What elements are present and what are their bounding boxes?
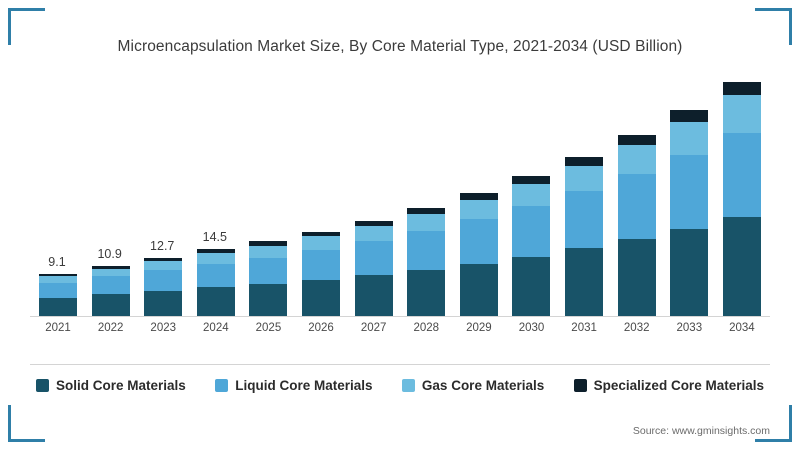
bar-segment [723,95,761,132]
x-axis-tick: 2022 [91,322,131,342]
x-axis-tick: 2023 [143,322,183,342]
bar-segment [355,275,393,316]
corner-bracket-bottom-left [8,405,45,442]
bar-segment [460,264,498,317]
chart-page: Microencapsulation Market Size, By Core … [0,0,800,450]
bar-segment [565,157,603,166]
bar-stack [460,193,498,316]
x-axis-line [30,316,770,317]
legend-label: Gas Core Materials [422,378,544,393]
x-axis-tick: 2029 [459,322,499,342]
bar-segment [407,270,445,316]
bar-segment [618,135,656,146]
plot-area: 9.110.912.714.5 [30,82,770,316]
legend-swatch-icon [215,379,228,392]
x-axis-tick: 2028 [406,322,446,342]
x-axis-tick: 2026 [301,322,341,342]
x-axis-tick: 2021 [38,322,78,342]
bar-segment [92,294,130,316]
bar-stack [144,258,182,317]
bar-column [354,82,394,316]
bar-stack [407,208,445,316]
x-axis-tick: 2027 [354,322,394,342]
bar-segment [144,291,182,316]
x-axis-tick: 2025 [248,322,288,342]
bar-segment [618,239,656,316]
bar-stack [92,266,130,316]
bar-segment [355,241,393,275]
x-axis-tick: 2032 [617,322,657,342]
bar-column [459,82,499,316]
bar-segment [144,270,182,291]
bar-segment [39,298,77,316]
bar-segment [92,269,130,277]
chart-title: Microencapsulation Market Size, By Core … [0,38,800,56]
bar-value-label: 12.7 [132,239,192,253]
bar-column [564,82,604,316]
bar-column [301,82,341,316]
bar-segment [670,122,708,155]
bar-column [406,82,446,316]
bar-column [722,82,762,316]
bar-stack [618,135,656,316]
bar-segment [565,166,603,191]
bar-segment [565,191,603,248]
bar-stack [197,249,235,316]
bar-column [511,82,551,316]
bar-segment [723,82,761,95]
bar-segment [512,184,550,206]
bar-segment [460,200,498,220]
legend-divider [30,364,770,365]
source-note: Source: www.gminsights.com [633,425,770,437]
bar-column [248,82,288,316]
bar-stack [565,157,603,316]
bar-value-label: 14.5 [185,230,245,244]
bar-segment [355,226,393,241]
legend-swatch-icon [36,379,49,392]
bar-segment [249,246,287,258]
x-axis-tick: 2030 [511,322,551,342]
bar-stack [512,176,550,316]
bar-segment [302,280,340,316]
bar-segment [302,236,340,249]
bar-column [669,82,709,316]
bar-segment [618,145,656,174]
bar-segment [460,193,498,200]
bar-column: 9.1 [38,82,78,316]
bar-stack [302,232,340,316]
bar-stack [723,82,761,316]
legend-swatch-icon [402,379,415,392]
x-axis-tick-labels: 2021202220232024202520262027202820292030… [30,322,770,342]
bar-column [617,82,657,316]
bar-segment [460,219,498,263]
bar-segment [39,283,77,298]
bar-segment [197,264,235,288]
bar-stack [670,110,708,316]
bar-segment [92,276,130,294]
bar-segment [197,253,235,264]
legend-item[interactable]: Liquid Core Materials [215,378,372,393]
bar-column: 10.9 [91,82,131,316]
bar-column: 14.5 [196,82,236,316]
bar-segment [249,258,287,285]
bar-segment [565,248,603,316]
bar-stack [39,274,77,316]
x-axis-tick: 2024 [196,322,236,342]
bar-value-label: 9.1 [27,255,87,269]
bar-value-label: 10.9 [80,247,140,261]
legend-item[interactable]: Specialized Core Materials [574,378,764,393]
bar-segment [723,133,761,217]
bar-segment [144,261,182,270]
legend-label: Solid Core Materials [56,378,186,393]
bar-stack [249,241,287,316]
legend-swatch-icon [574,379,587,392]
x-axis-tick: 2031 [564,322,604,342]
bar-segment [407,231,445,270]
bar-segment [512,206,550,256]
bar-segment [723,217,761,316]
legend-label: Liquid Core Materials [235,378,372,393]
x-axis-tick: 2034 [722,322,762,342]
bar-segment [512,176,550,184]
bar-segment [197,287,235,316]
legend-label: Specialized Core Materials [594,378,764,393]
bar-stack [355,221,393,316]
bar-segment [670,229,708,317]
bar-segment [512,257,550,316]
x-axis-tick: 2033 [669,322,709,342]
legend-item[interactable]: Gas Core Materials [402,378,544,393]
bar-segment [302,250,340,280]
bar-segment [670,155,708,229]
bar-segment [670,110,708,122]
bar-group: 9.110.912.714.5 [30,82,770,316]
bar-column: 12.7 [143,82,183,316]
bar-segment [407,214,445,231]
chart-legend: Solid Core MaterialsLiquid Core Material… [30,378,770,393]
bar-segment [249,284,287,316]
legend-item[interactable]: Solid Core Materials [36,378,186,393]
bar-segment [618,174,656,239]
